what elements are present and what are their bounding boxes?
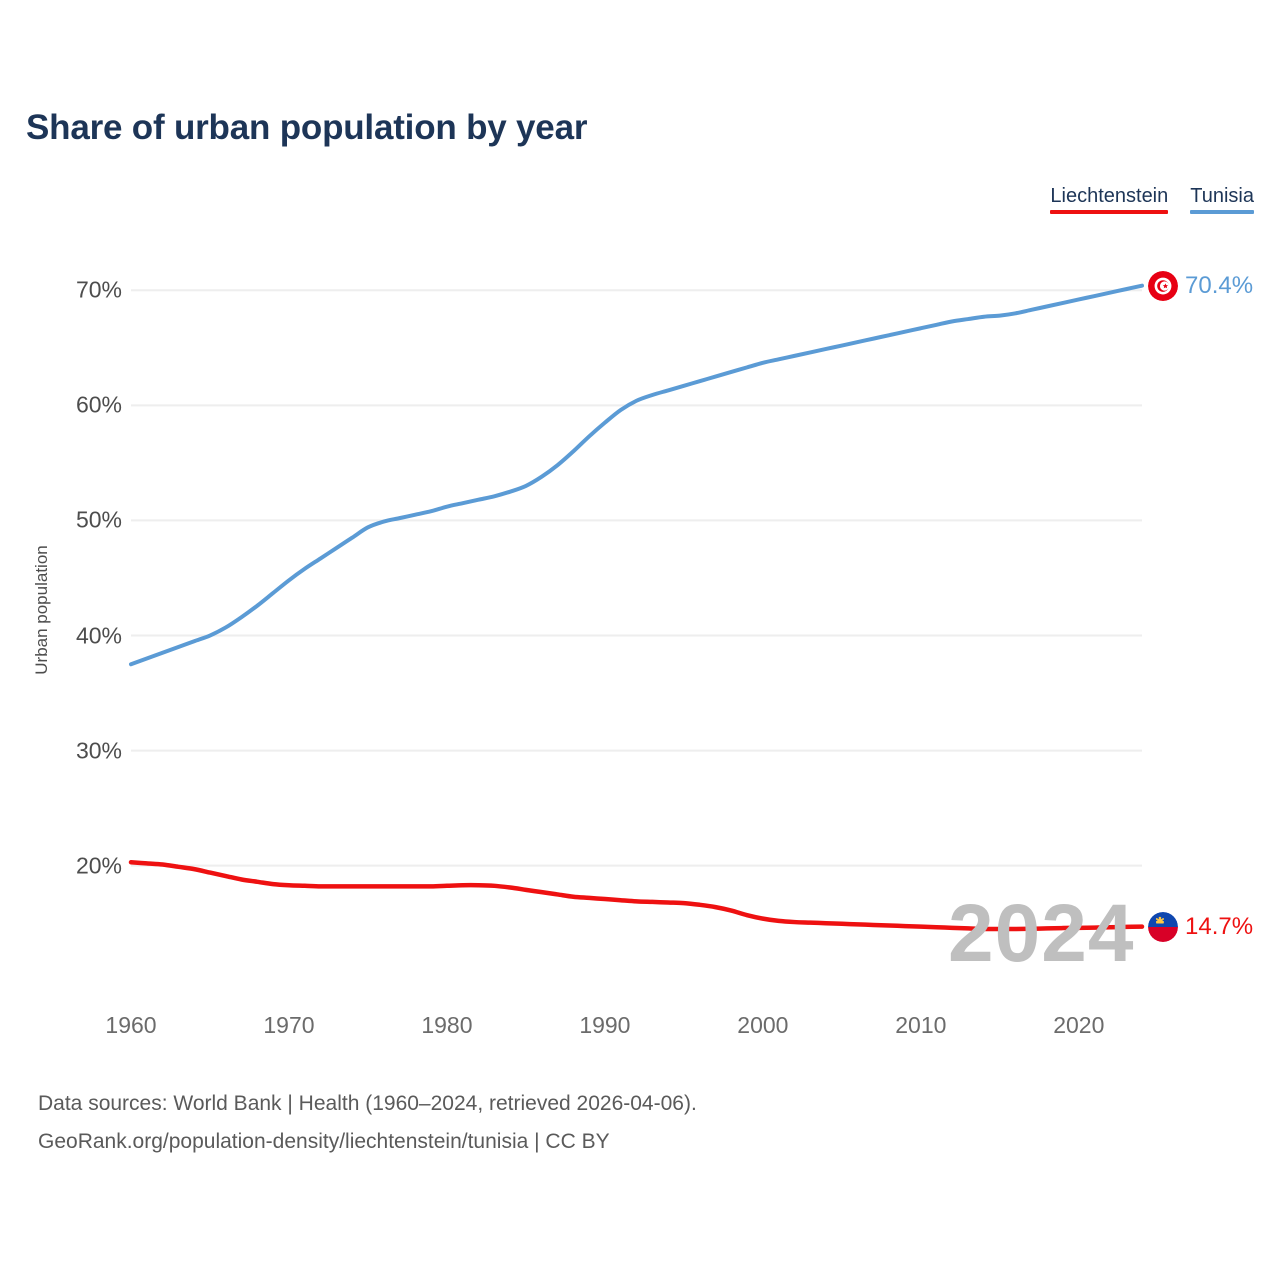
year-watermark: 2024 [948, 893, 1134, 975]
series-line-tunisia [131, 286, 1142, 665]
liechtenstein-endpoint-value: 14.7% [1185, 913, 1253, 941]
chart-container: Share of urban population by year Liecht… [0, 0, 1280, 1280]
gridlines [131, 290, 1142, 865]
series-lines [131, 286, 1142, 929]
tunisia-endpoint: 70.4% [1148, 271, 1253, 301]
tunisia-endpoint-value: 70.4% [1185, 272, 1253, 300]
footer-line-attribution: GeoRank.org/population-density/liechtens… [38, 1123, 697, 1161]
footer: Data sources: World Bank | Health (1960–… [38, 1085, 697, 1161]
tunisia-flag-icon [1148, 271, 1178, 301]
liechtenstein-flag-icon [1148, 912, 1178, 942]
liechtenstein-endpoint: 14.7% [1148, 912, 1253, 942]
footer-line-sources: Data sources: World Bank | Health (1960–… [38, 1085, 697, 1123]
